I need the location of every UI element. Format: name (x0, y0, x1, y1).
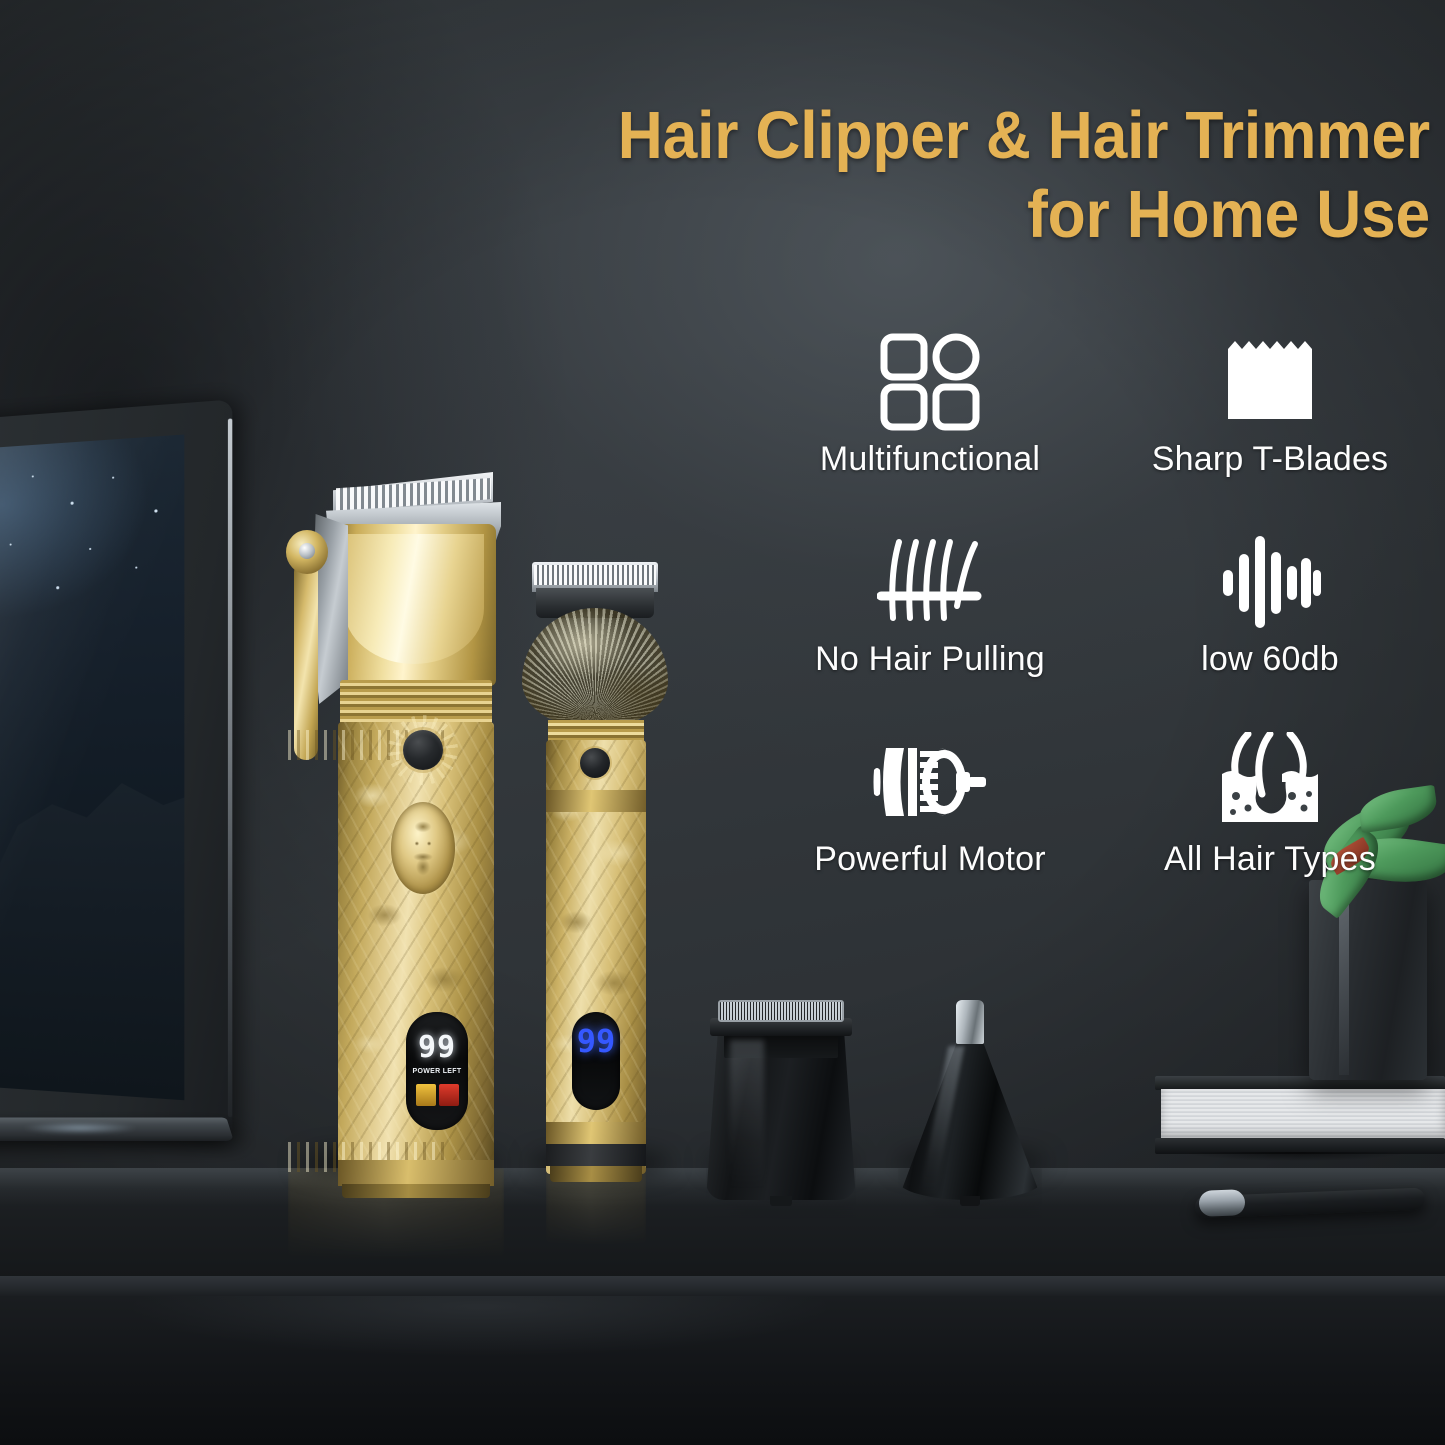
feature-multifunctional: Multifunctional (770, 332, 1090, 532)
feature-powerful-motor: Powerful Motor (770, 732, 1090, 932)
marketing-overlay: Hair Clipper & Hair Trimmer for Home Use… (0, 0, 1445, 1445)
sound-wave-icon (1219, 532, 1321, 632)
feature-label: All Hair Types (1164, 840, 1376, 879)
feature-label: Powerful Motor (814, 840, 1045, 879)
feature-sharp-t-blades: Sharp T-Blades (1110, 332, 1430, 532)
headline-line-1: Hair Clipper & Hair Trimmer (379, 96, 1430, 175)
feature-label: low 60db (1201, 640, 1339, 679)
feature-label: No Hair Pulling (815, 640, 1045, 679)
feature-all-hair-types: All Hair Types (1110, 732, 1430, 932)
feature-grid: Multifunctional Sharp T-Blades (770, 332, 1430, 932)
page-title: Hair Clipper & Hair Trimmer for Home Use (379, 96, 1430, 254)
electric-motor-icon (872, 732, 988, 832)
feature-label: Multifunctional (820, 440, 1040, 479)
hair-strands-comb-icon (877, 532, 983, 632)
feature-label: Sharp T-Blades (1152, 440, 1389, 479)
sawtooth-blade-icon (1224, 332, 1316, 432)
headline-line-2: for Home Use (379, 175, 1430, 254)
skin-follicle-icon (1214, 732, 1326, 832)
grid-multifunction-icon (878, 332, 982, 432)
feature-no-hair-pulling: No Hair Pulling (770, 532, 1090, 732)
feature-low-60db: low 60db (1110, 532, 1430, 732)
